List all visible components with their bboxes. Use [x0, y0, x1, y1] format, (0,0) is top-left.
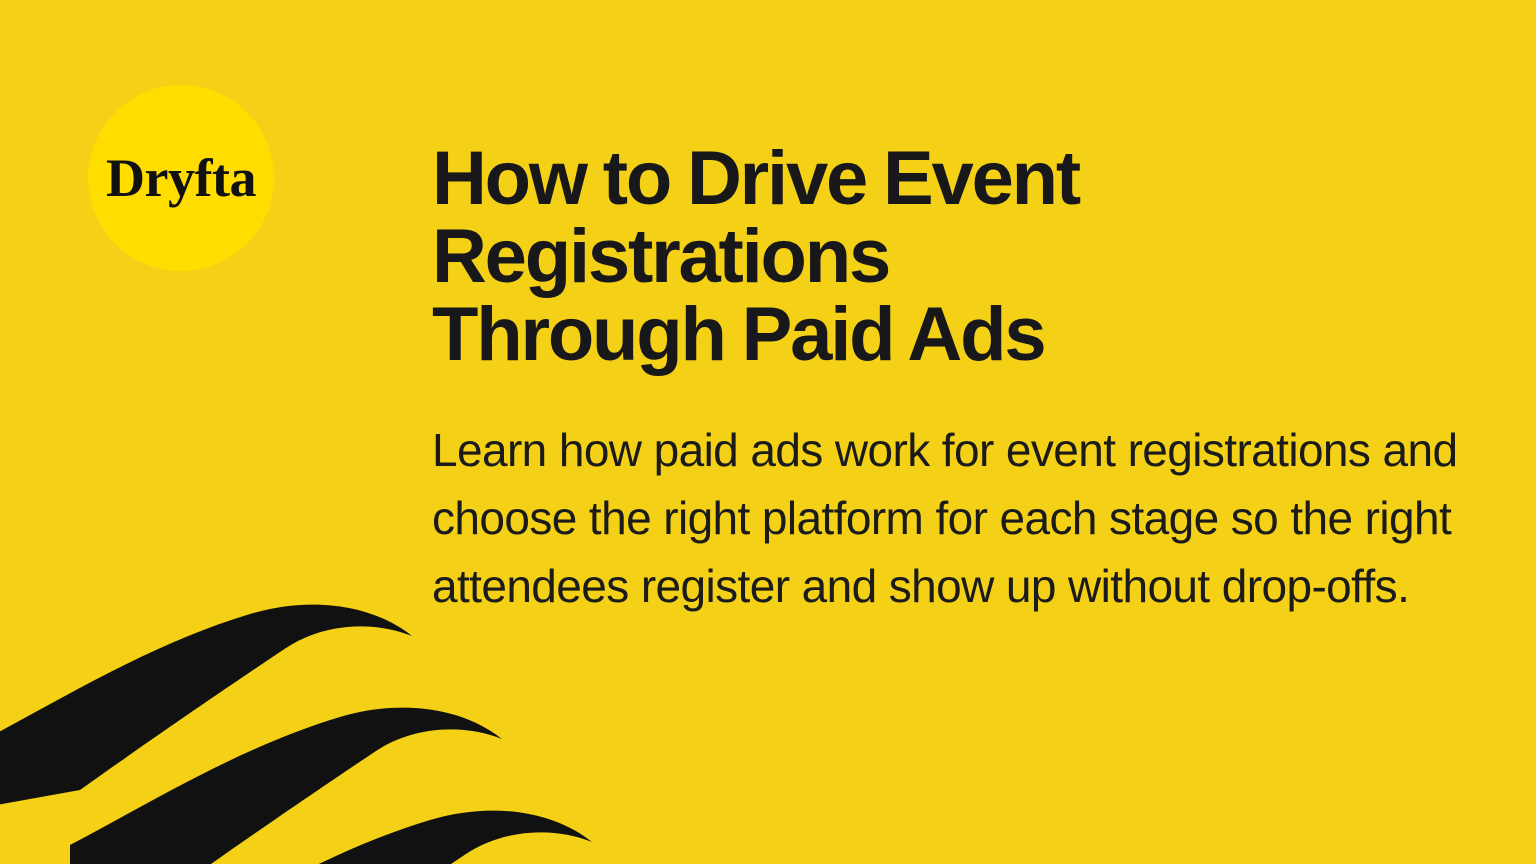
swoosh-stripe-2 [70, 708, 502, 864]
logo-badge: Dryfta [88, 85, 274, 271]
page-subtitle: Learn how paid ads work for event regist… [432, 374, 1477, 620]
swoosh-stripe-1 [0, 605, 412, 808]
title-slide: Dryfta How to Drive Event Registrations … [0, 0, 1536, 864]
logo-wordmark: Dryfta [106, 151, 256, 205]
slide-text-block: How to Drive Event Registrations Through… [432, 140, 1480, 620]
page-title: How to Drive Event Registrations Through… [432, 140, 1480, 374]
swoosh-stripe-3 [160, 811, 592, 864]
